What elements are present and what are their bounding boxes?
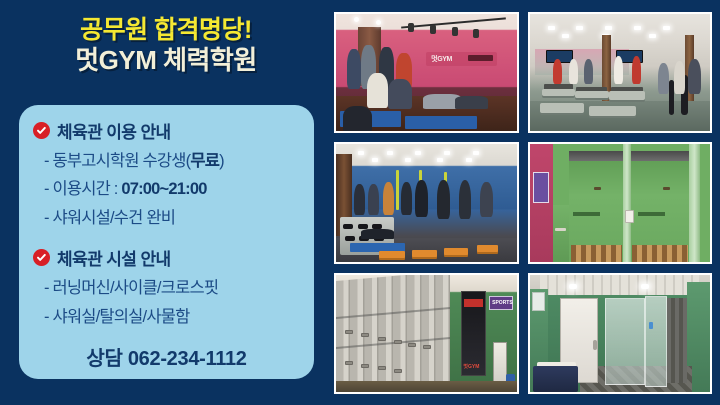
photo-cardio-treadmill-area — [528, 12, 713, 133]
contact-phone-number[interactable]: 상담 062-234-1112 — [33, 342, 300, 371]
usage-item-shower: - 샤워시설/수건 완비 — [33, 204, 300, 232]
facility-item-amenities: - 샤워실/탈의실/사물함 — [33, 303, 300, 331]
section-facility-guide: 체육관 시설 안내 - 러닝머신/사이클/크로스핏 - 샤워실/탈의실/사물함 — [33, 245, 300, 331]
section-usage-title: 체육관 이용 안내 — [57, 118, 171, 143]
section-usage-guide: 체육관 이용 안내 - 동부고시학원 수강생(무료) - 이용시간 : 07:0… — [33, 118, 300, 232]
usage-item-members: - 동부고시학원 수강생(무료) — [33, 147, 300, 175]
photo-green-shower-stalls — [528, 142, 713, 263]
info-column: 공무원 합격명당! 멋GYM 체력학원 체육관 이용 안내 - 동부고시학원 수… — [0, 0, 332, 405]
photo-gallery: 멋GYM — [334, 12, 712, 394]
headline-line-1: 공무원 합격명당! — [0, 17, 332, 44]
usage-item-hours: - 이용시간 : 07:00~21:00 — [33, 175, 300, 203]
section-facility-header: 체육관 시설 안내 — [33, 245, 300, 270]
section-facility-title: 체육관 시설 안내 — [57, 245, 171, 270]
photo-metal-locker-room: 멋GYM SPORTS — [334, 273, 519, 394]
photo-weights-step-training — [334, 142, 519, 263]
check-circle-icon — [33, 122, 50, 139]
gym-advertisement-poster: 공무원 합격명당! 멋GYM 체력학원 체육관 이용 안내 - 동부고시학원 수… — [0, 0, 720, 405]
check-circle-icon — [33, 249, 50, 266]
section-usage-header: 체육관 이용 안내 — [33, 118, 300, 143]
photo-shower-room-glass — [528, 273, 713, 394]
facility-item-equipment: - 러닝머신/사이클/크로스핏 — [33, 274, 300, 302]
info-panel: 체육관 이용 안내 - 동부고시학원 수강생(무료) - 이용시간 : 07:0… — [19, 105, 314, 379]
photo-group-workout-pink-wall: 멋GYM — [334, 12, 519, 133]
gym-logo-sign: 멋GYM — [426, 52, 496, 66]
headline-line-2: 멋GYM 체력학원 — [0, 47, 332, 75]
page-title: 공무원 합격명당! 멋GYM 체력학원 — [0, 0, 332, 74]
